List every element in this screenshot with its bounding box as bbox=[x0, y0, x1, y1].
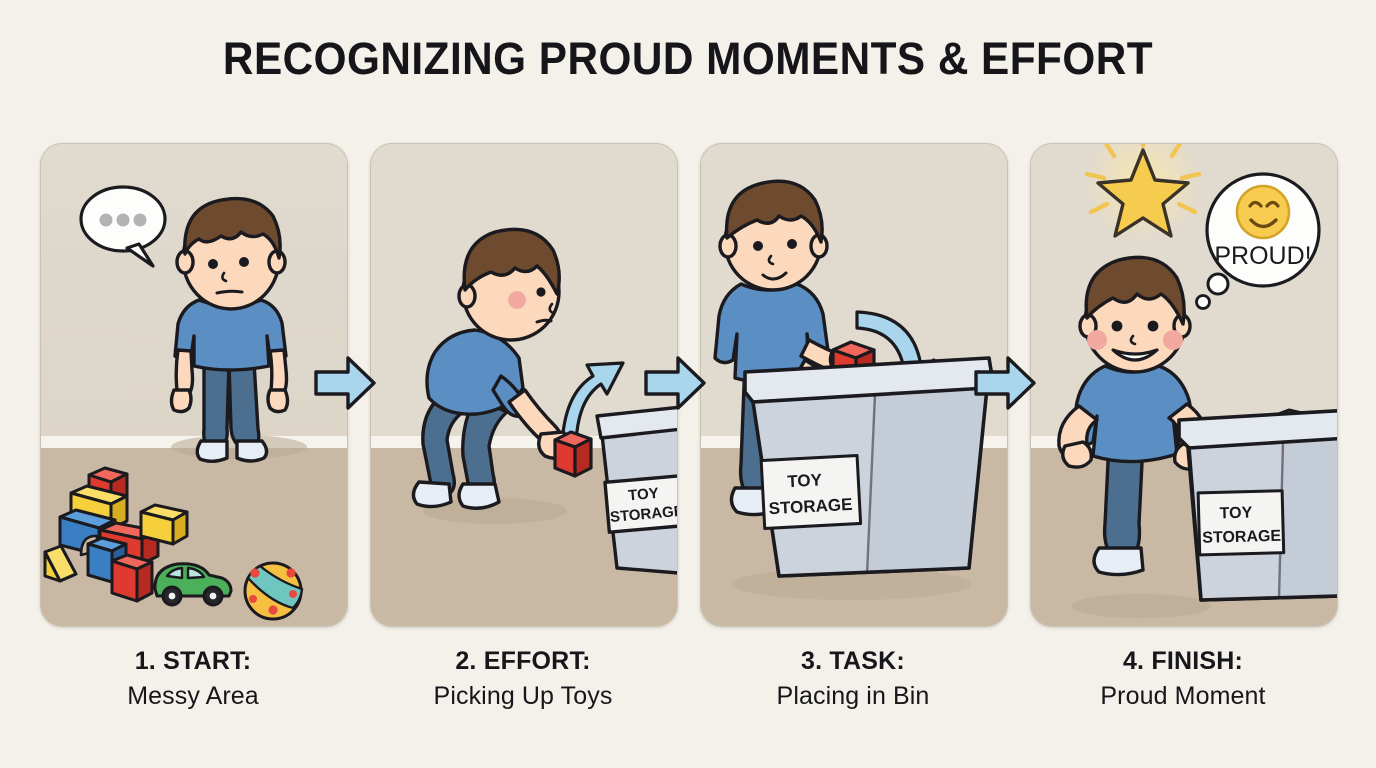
bin-label-line-1: TOY bbox=[787, 470, 823, 491]
eye-left bbox=[208, 259, 218, 269]
eye-left bbox=[753, 241, 763, 251]
dot-3 bbox=[134, 214, 147, 227]
wall bbox=[41, 144, 347, 444]
caption-panel-1: 1. START: Messy Area bbox=[40, 645, 346, 715]
caption-2-sub: Picking Up Toys bbox=[370, 677, 676, 715]
caption-panel-3: 3. TASK: Placing in Bin bbox=[700, 645, 1006, 715]
caption-4-head: 4. FINISH: bbox=[1030, 645, 1336, 677]
eye-right bbox=[239, 257, 249, 267]
eye-right bbox=[787, 239, 797, 249]
cheek-blush bbox=[508, 291, 526, 309]
arrow-panel2-to-panel3 bbox=[642, 352, 708, 414]
panel-2-illustration: TOY STORAGE bbox=[371, 144, 677, 626]
mouth bbox=[537, 320, 551, 322]
dot-2 bbox=[117, 214, 130, 227]
caption-2-head: 2. EFFORT: bbox=[370, 645, 676, 677]
red-cube bbox=[112, 555, 152, 601]
bin-label-line-2: STORAGE bbox=[1202, 528, 1282, 547]
bin-label-line-1: TOY bbox=[628, 485, 660, 505]
boy-shadow bbox=[1071, 594, 1211, 618]
right-arrow-icon bbox=[642, 352, 708, 414]
bin-label: TOY STORAGE bbox=[761, 456, 860, 529]
infographic-stage: RECOGNIZING PROUD MOMENTS & EFFORT bbox=[0, 0, 1376, 768]
caption-4-sub: Proud Moment bbox=[1030, 677, 1336, 715]
right-arrow-icon bbox=[972, 352, 1038, 414]
cheek-left bbox=[1087, 330, 1107, 350]
panel-4-illustration: PROUD! bbox=[1031, 144, 1337, 626]
caption-panel-4: 4. FINISH: Proud Moment bbox=[1030, 645, 1336, 715]
page-title: RECOGNIZING PROUD MOMENTS & EFFORT bbox=[41, 33, 1334, 85]
dot-1 bbox=[100, 214, 113, 227]
eye-right bbox=[1148, 321, 1159, 332]
bin-label: TOY STORAGE bbox=[605, 475, 677, 532]
mouth-neutral bbox=[217, 291, 242, 293]
arrow-panel1-to-panel2 bbox=[312, 352, 378, 414]
panel-3-illustration: TOY STORAGE bbox=[701, 144, 1007, 626]
arrow-panel3-to-panel4 bbox=[972, 352, 1038, 414]
yellow-rectangle-block bbox=[141, 505, 187, 544]
panel-task-placing-in-bin[interactable]: TOY STORAGE bbox=[700, 143, 1008, 627]
smiley-emoji bbox=[1237, 186, 1289, 238]
bin-label-line-1: TOY bbox=[1219, 504, 1252, 522]
toy-storage-bin: TOY STORAGE bbox=[745, 358, 993, 576]
panel-1-illustration bbox=[41, 144, 347, 626]
panel-effort-picking-up-toys[interactable]: TOY STORAGE bbox=[370, 143, 678, 627]
right-arrow-icon bbox=[312, 352, 378, 414]
caption-1-head: 1. START: bbox=[40, 645, 346, 677]
caption-3-sub: Placing in Bin bbox=[700, 677, 1006, 715]
panel-finish-proud-moment[interactable]: PROUD! bbox=[1030, 143, 1338, 627]
cheek-right bbox=[1163, 330, 1183, 350]
eye bbox=[536, 287, 545, 296]
caption-panel-2: 2. EFFORT: Picking Up Toys bbox=[370, 645, 676, 715]
held-red-block bbox=[555, 432, 591, 476]
bin-label: TOY STORAGE bbox=[1198, 491, 1284, 555]
eye-left bbox=[1112, 321, 1123, 332]
toy-storage-bin: TOY STORAGE bbox=[1179, 410, 1337, 600]
caption-1-sub: Messy Area bbox=[40, 677, 346, 715]
panel-start-messy-area[interactable] bbox=[40, 143, 348, 627]
striped-ball bbox=[245, 563, 302, 619]
caption-3-head: 3. TASK: bbox=[700, 645, 1006, 677]
thought-bubble-text: PROUD! bbox=[1214, 242, 1311, 270]
